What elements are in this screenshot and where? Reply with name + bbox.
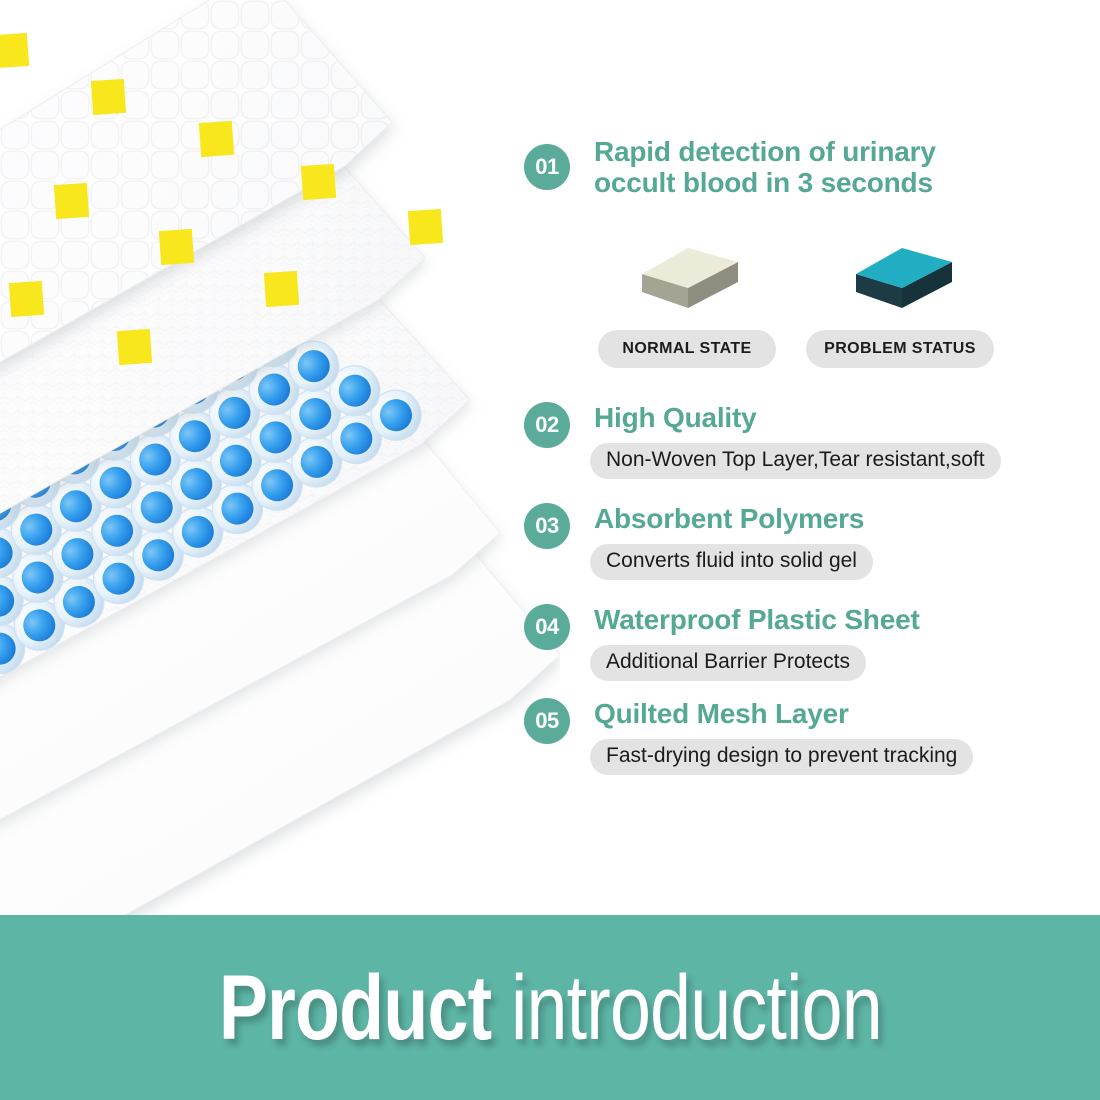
infographic-canvas: 01 Rapid detection of urinary occult blo… (0, 0, 1100, 1100)
normal-state-label: NORMAL STATE (598, 330, 776, 368)
feature-caption-04: Additional Barrier Protects (590, 645, 866, 681)
feature-number-01: 01 (524, 144, 570, 190)
feature-caption-02: Non-Woven Top Layer,Tear resistant,soft (590, 443, 1001, 479)
feature-number-04: 04 (524, 604, 570, 650)
feature-number-03: 03 (524, 503, 570, 549)
feature-caption-05: Fast-drying design to prevent tracking (590, 739, 973, 775)
problem-status-cube (844, 212, 964, 308)
feature-title-01: Rapid detection of urinary occult blood … (594, 136, 1034, 199)
feature-title-02: High Quality (594, 402, 757, 433)
feature-title-03: Absorbent Polymers (594, 503, 864, 534)
feature-title-04: Waterproof Plastic Sheet (594, 604, 920, 635)
feature-title-05: Quilted Mesh Layer (594, 698, 849, 729)
banner-title-light: introduction (491, 957, 882, 1059)
product-introduction-banner: Product introduction (0, 915, 1100, 1100)
feature-list: 01 Rapid detection of urinary occult blo… (518, 0, 1100, 920)
feature-number-05: 05 (524, 698, 570, 744)
exploded-layers-illustration (0, 0, 560, 920)
problem-status-label: PROBLEM STATUS (806, 330, 994, 368)
banner-title-strong: Product (218, 957, 490, 1059)
feature-caption-03: Converts fluid into solid gel (590, 544, 873, 580)
banner-title: Product introduction (218, 962, 881, 1054)
product-layers-image (0, 0, 560, 920)
feature-number-02: 02 (524, 402, 570, 448)
normal-state-cube (630, 212, 750, 308)
